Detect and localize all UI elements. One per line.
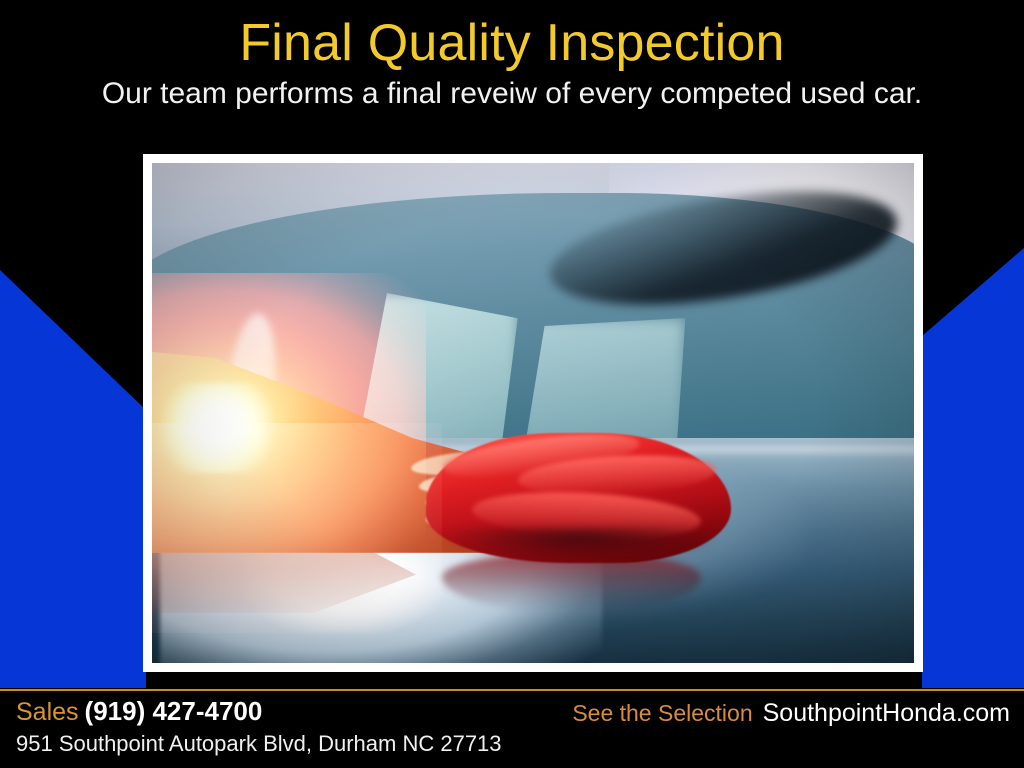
blue-accent-shape-right (922, 248, 1024, 688)
page-title: Final Quality Inspection (0, 0, 1024, 71)
blue-accent-shape-left (0, 270, 146, 688)
photo-image (152, 163, 914, 663)
sales-label: Sales (16, 698, 79, 726)
dealership-address: 951 Southpoint Autopark Blvd, Durham NC … (16, 731, 502, 756)
footer-website-block: See the SelectionSouthpointHonda.com (572, 699, 1010, 728)
photo-frame (143, 154, 923, 672)
sales-phone-number[interactable]: (919) 427-4700 (79, 696, 263, 726)
footer-contact-block: Sales(919) 427-4700 951 Southpoint Autop… (16, 697, 502, 756)
see-the-selection-label: See the Selection (572, 700, 752, 726)
website-link[interactable]: SouthpointHonda.com (753, 699, 1010, 727)
sales-line: Sales(919) 427-4700 (16, 697, 502, 726)
footer-bar: Sales(919) 427-4700 951 Southpoint Autop… (0, 691, 1024, 768)
slide-canvas: Final Quality Inspection Our team perfor… (0, 0, 1024, 768)
heading-block: Final Quality Inspection Our team perfor… (0, 0, 1024, 110)
page-subtitle: Our team performs a final reveiw of ever… (0, 71, 1024, 110)
photo-vignette (152, 163, 914, 663)
